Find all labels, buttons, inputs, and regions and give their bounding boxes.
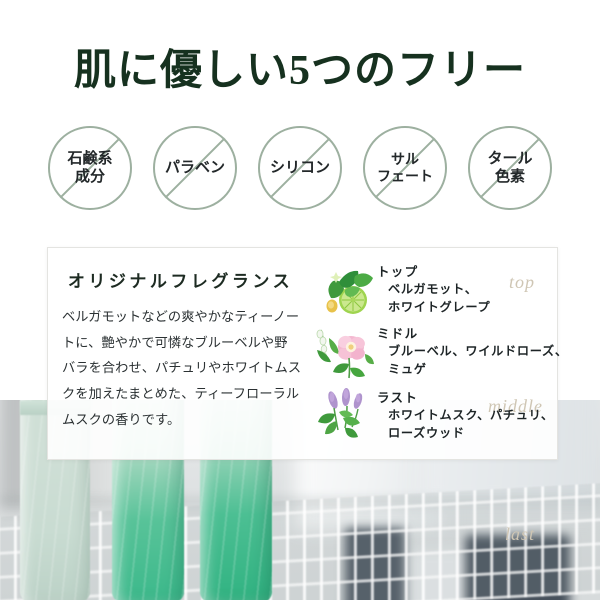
- badge-line: 色素: [487, 168, 532, 186]
- note-row-last: ラスト ホワイトムスク、パチュリ、 ローズウッド last: [313, 388, 557, 444]
- free-badge-tar-dye: タール 色素: [462, 120, 558, 216]
- note-detail: ベルガモット、: [377, 281, 490, 299]
- fragrance-panel: オリジナルフレグランス ベルガモットなどの爽やかなティーノー トに、艶やかで可憐…: [47, 247, 558, 460]
- wild-rose-bluebell-icon: [315, 324, 377, 380]
- note-text-top: トップ ベルガモット、 ホワイトグレープ: [377, 262, 490, 316]
- free-badge-label: パラベン: [165, 159, 225, 177]
- free-badge-row: 石鹸系 成分 パラベン シリコン サル フェート: [0, 118, 600, 218]
- note-text-last: ラスト ホワイトムスク、パチュリ、 ローズウッド: [377, 388, 554, 442]
- fragrance-body-line: ムスクの香りです。: [62, 407, 299, 433]
- note-row-middle: ミドル ブルーベル、ワイルドローズ、 ミュゲ middle: [313, 324, 557, 380]
- fragrance-body-line: ベルガモットなどの爽やかなティーノー: [62, 304, 299, 330]
- badge-line: 石鹸系: [67, 150, 112, 168]
- note-script-last: last: [505, 524, 535, 545]
- note-row-top: トップ ベルガモット、 ホワイトグレープ top: [313, 262, 557, 318]
- badge-line: フェート: [377, 168, 433, 185]
- badge-line: パラベン: [165, 159, 225, 177]
- badge-line: タール: [487, 150, 532, 168]
- fragrance-body-line: クを加えたまとめた、ティーフローラル: [62, 381, 299, 407]
- free-badge-label: サル フェート: [377, 151, 433, 185]
- note-detail: ホワイトムスク、パチュリ、: [377, 407, 554, 425]
- patchouli-sprig-icon: [315, 388, 377, 444]
- fragrance-heading: オリジナルフレグランス: [62, 267, 299, 292]
- note-heading: トップ: [377, 264, 490, 281]
- note-script-top: top: [509, 272, 535, 293]
- free-badge-label: 石鹸系 成分: [67, 150, 112, 187]
- note-heading: ミドル: [377, 326, 568, 343]
- badge-line: シリコン: [270, 159, 330, 177]
- free-badge-paraben: パラベン: [147, 120, 243, 216]
- free-badge-silicone: シリコン: [252, 120, 348, 216]
- fragrance-description-column: オリジナルフレグランス ベルガモットなどの爽やかなティーノー トに、艶やかで可憐…: [48, 248, 313, 459]
- badge-line: 成分: [67, 168, 112, 186]
- bergamot-citrus-icon: [315, 262, 377, 318]
- fragrance-body-line: バラを合わせ、パチュリやホワイトムス: [62, 355, 299, 381]
- fragrance-body: ベルガモットなどの爽やかなティーノー トに、艶やかで可憐なブルーベルや野 バラを…: [62, 304, 299, 433]
- free-badge-sulfate: サル フェート: [357, 120, 453, 216]
- free-badge-soap-ingredient: 石鹸系 成分: [42, 120, 138, 216]
- page-title: 肌に優しい5つのフリー: [0, 36, 600, 97]
- note-heading: ラスト: [377, 390, 554, 407]
- free-badge-label: シリコン: [270, 159, 330, 177]
- note-detail: ホワイトグレープ: [377, 299, 490, 317]
- note-detail: ミュゲ: [377, 361, 568, 379]
- note-text-middle: ミドル ブルーベル、ワイルドローズ、 ミュゲ: [377, 324, 568, 378]
- badge-line: サル: [377, 151, 433, 168]
- fragrance-notes-column: トップ ベルガモット、 ホワイトグレープ top: [313, 248, 557, 459]
- note-detail: ブルーベル、ワイルドローズ、: [377, 343, 568, 361]
- free-badge-label: タール 色素: [487, 150, 532, 187]
- fragrance-body-line: トに、艶やかで可憐なブルーベルや野: [62, 330, 299, 356]
- infographic-canvas: 肌に優しい5つのフリー 石鹸系 成分 パラベン シリコン: [0, 0, 600, 600]
- note-detail: ローズウッド: [377, 425, 554, 443]
